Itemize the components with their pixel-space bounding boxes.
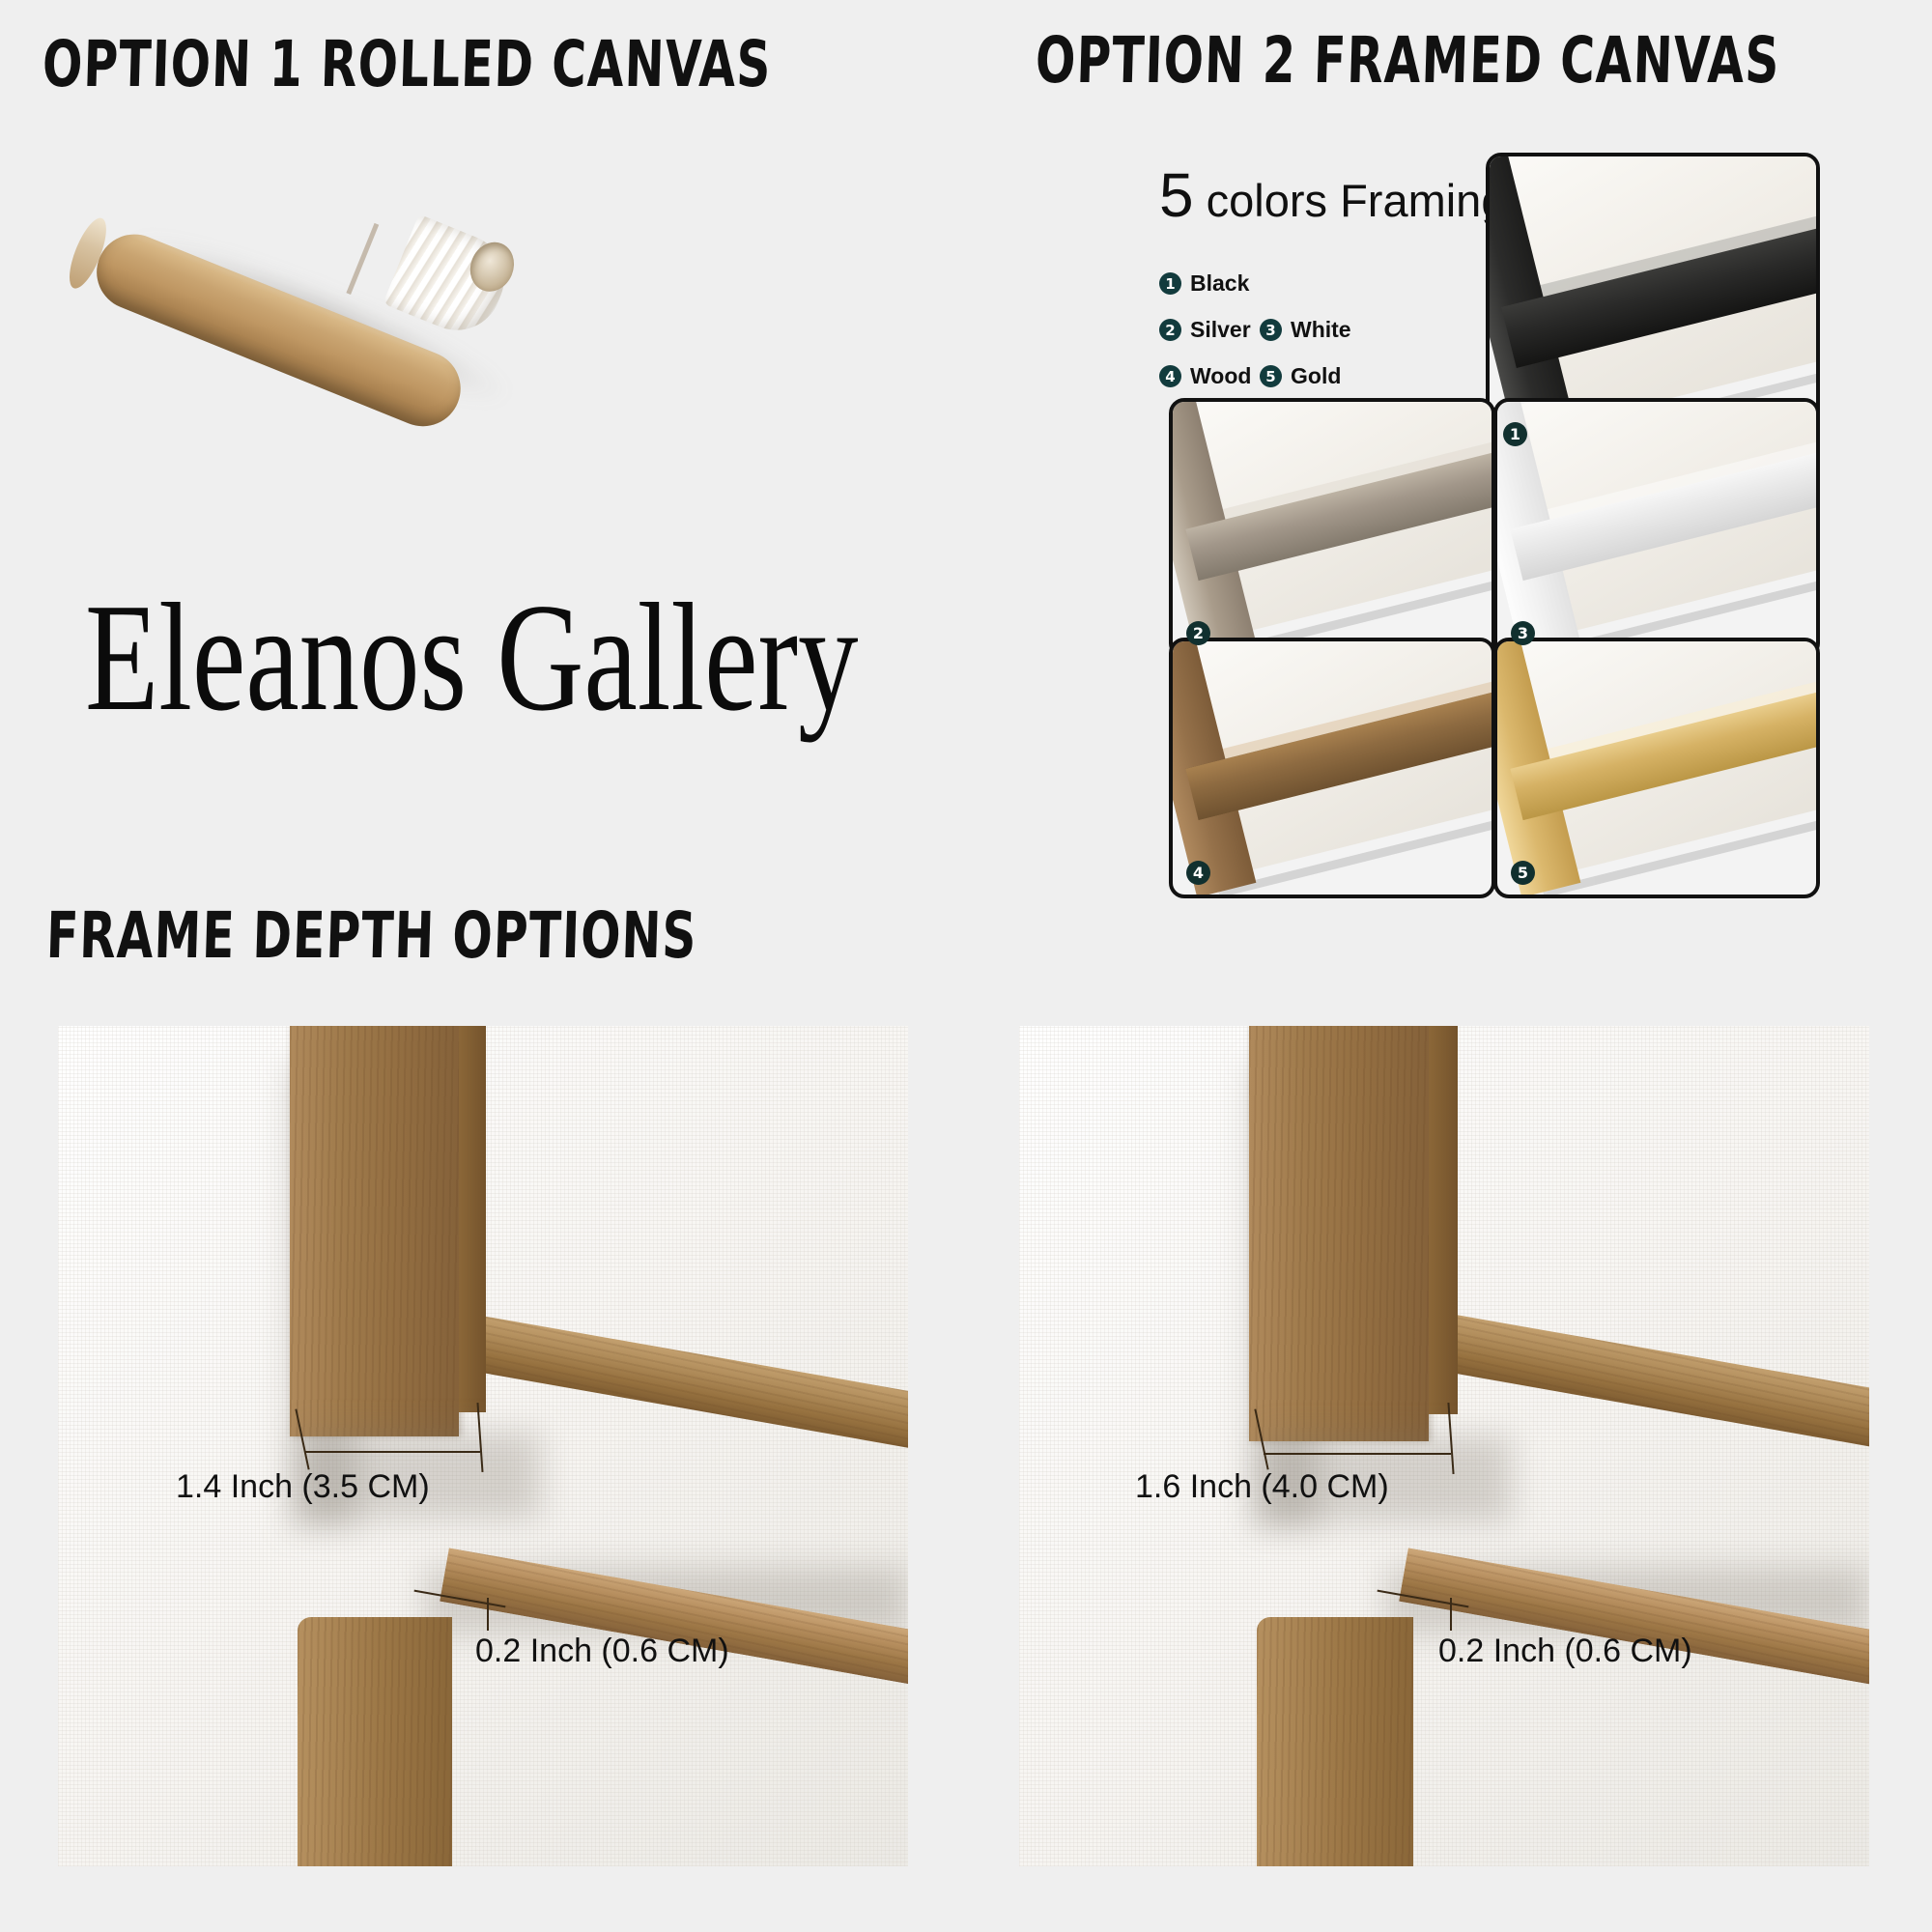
frame-sample-number-3-icon: 3 [1511,621,1535,645]
rolled-canvas-tube-image [82,145,584,425]
frame-corner-photo [1497,402,1816,655]
frame-corner-photo [1173,641,1492,895]
canvas-edge-label-right: 0.2 Inch (0.6 CM) [1438,1633,1692,1670]
framing-colors-legend: 5 colors Framing 1 Black 2 Silver 3 Whit… [1159,164,1488,410]
legend-label-gold: Gold [1291,363,1341,389]
vertical-moulding [290,1026,459,1436]
frame-depth-label-right: 1.6 Inch (4.0 CM) [1135,1468,1389,1506]
legend-label-wood: Wood [1190,363,1251,389]
badge-2-icon: 2 [1159,319,1181,341]
legend-count: 5 [1159,160,1194,230]
legend-row: 1 Black [1159,270,1488,297]
frame-sample-number-1-icon: 1 [1503,422,1527,446]
frame-depth-photo-right: 1.6 Inch (4.0 CM) 0.2 Inch (0.6 CM) [1019,1026,1869,1866]
legend-item-gold: 5 Gold [1260,363,1341,389]
frame-sample-gold: 5 [1493,638,1820,898]
legend-label-silver: Silver [1190,317,1251,343]
frame-sample-white: 3 [1493,398,1820,659]
lower-corner-moulding [1257,1617,1413,1866]
option-1-title: OPTION 1 ROLLED CANVAS [42,27,773,101]
badge-1-icon: 1 [1159,272,1181,295]
vertical-moulding-side [459,1026,486,1412]
badge-3-icon: 3 [1260,319,1282,341]
frame-sample-number-2-icon: 2 [1186,621,1210,645]
edge-dim-tick [487,1598,489,1631]
badge-4-icon: 4 [1159,365,1181,387]
frame-corner-photo [1497,641,1816,895]
legend-row: 2 Silver 3 White [1159,317,1488,343]
frame-depth-label-left: 1.4 Inch (3.5 CM) [176,1468,430,1506]
frame-corner-photo [1173,402,1492,655]
legend-heading-text: colors Framing [1194,175,1507,226]
legend-heading: 5 colors Framing [1159,164,1488,226]
dim-span-line [1264,1453,1451,1455]
frame-sample-number-4-icon: 4 [1186,861,1210,885]
legend-item-silver: 2 Silver [1159,317,1260,343]
frame-depth-photo-left: 1.4 Inch (3.5 CM) 0.2 Inch (0.6 CM) [58,1026,908,1866]
frame-sample-silver: 2 [1169,398,1495,659]
dim-span-line [304,1451,480,1453]
frame-sample-number-5-icon: 5 [1511,861,1535,885]
frame-sample-wood: 4 [1169,638,1495,898]
tube-seam [346,223,379,295]
edge-dim-tick [1450,1598,1452,1631]
legend-item-white: 3 White [1260,317,1351,343]
vertical-moulding [1249,1026,1429,1441]
brand-wordmark: Eleanos Gallery [85,580,858,734]
badge-5-icon: 5 [1260,365,1282,387]
lower-corner-moulding [298,1617,452,1866]
legend-label-black: Black [1190,270,1249,297]
canvas-edge-label-left: 0.2 Inch (0.6 CM) [475,1633,729,1670]
option-2-title: OPTION 2 FRAMED CANVAS [1035,23,1781,98]
vertical-moulding-side [1429,1026,1458,1414]
legend-item-black: 1 Black [1159,270,1260,297]
legend-label-white: White [1291,317,1351,343]
legend-row: 4 Wood 5 Gold [1159,363,1488,389]
frame-depth-title: FRAME DEPTH OPTIONS [45,898,698,973]
legend-item-wood: 4 Wood [1159,363,1260,389]
